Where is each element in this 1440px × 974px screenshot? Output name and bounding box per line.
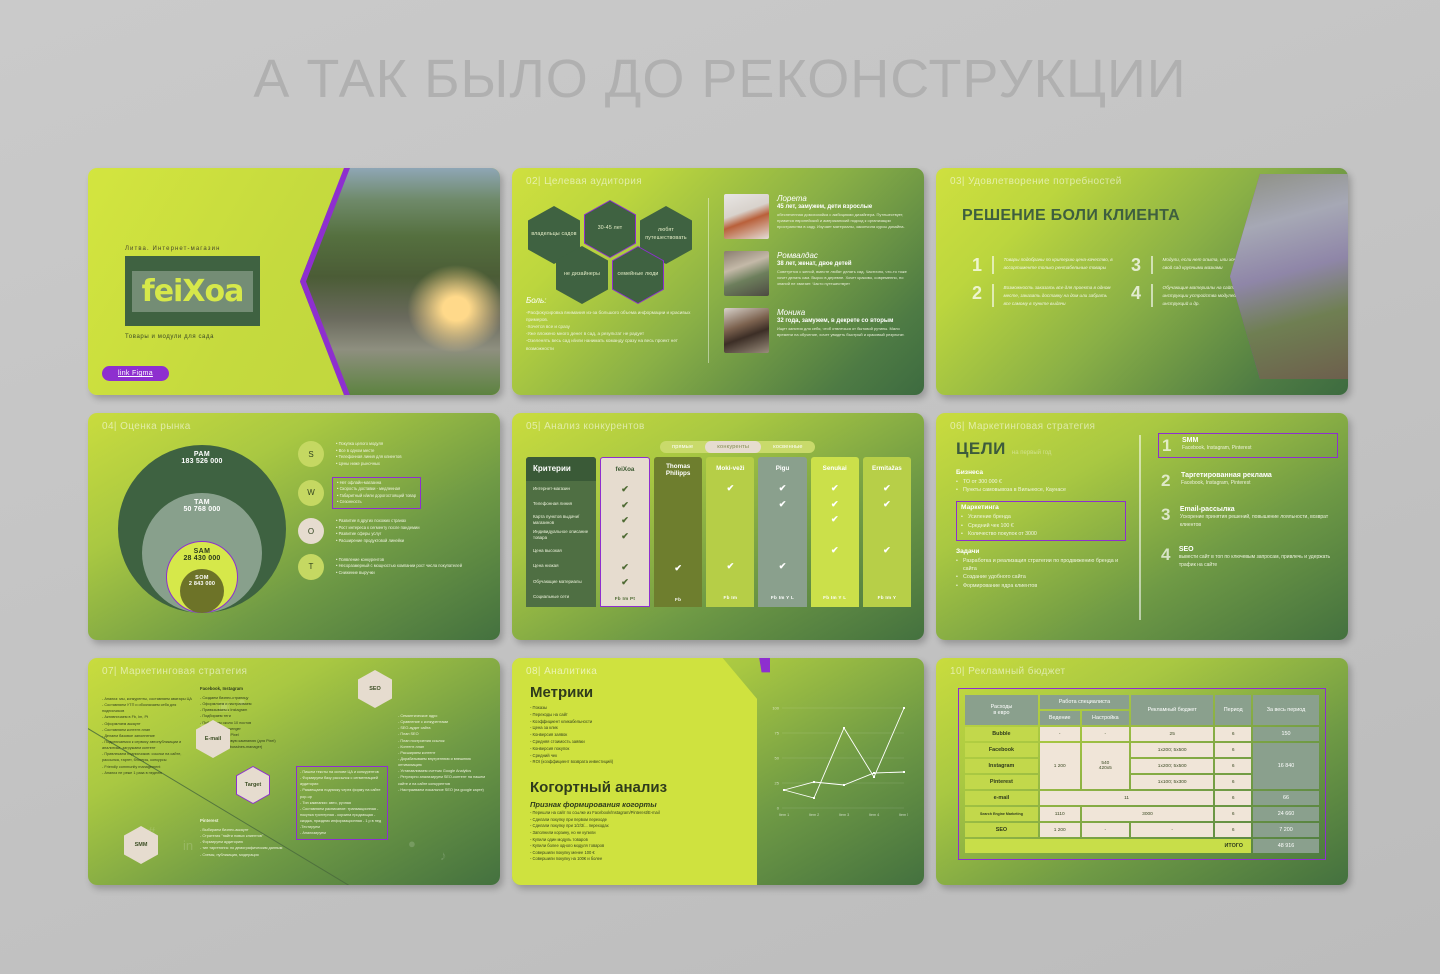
- column-pigu: Pigu ✔ ✔ ✔ Fb Im Y L: [758, 457, 806, 607]
- page-title: А ТАК БЫЛО ДО РЕКОНСТРУКЦИИ: [0, 48, 1440, 110]
- th-total-period: За весь период: [1253, 695, 1319, 725]
- hex-age: 30-45 лет: [584, 200, 636, 258]
- swot-items: • Появление конкурентов• Несоразмерный с…: [332, 555, 466, 579]
- persona-meta: 38 лет, женат, двое детей: [777, 261, 914, 267]
- column-header: Критерии: [526, 457, 596, 481]
- persona-desc: Ищет занятия для себя, чтоб отвлечься от…: [777, 326, 914, 338]
- check-icon: ✔: [831, 500, 839, 509]
- check-icon: ✔: [883, 500, 891, 509]
- persona-meta: 45 лет, замужем, дети взрослые: [777, 204, 914, 210]
- figma-link-button[interactable]: link Figma: [102, 366, 169, 381]
- social-cell: Fb Im: [706, 590, 754, 606]
- check-icon: ✔: [727, 484, 735, 493]
- slide6-label: 06| Маркетинговая стратегия: [950, 421, 1095, 432]
- channel-seo: 4 SEOвывести сайт в топ по ключевым запр…: [1158, 543, 1338, 572]
- list-item: Лорета 45 лет, замужем, дети взрослые об…: [724, 194, 914, 239]
- check-icon: ✔: [621, 532, 629, 541]
- logo-text: feiXoa: [142, 274, 244, 309]
- tab-competitors[interactable]: конкуренты: [705, 441, 761, 453]
- svg-text:25: 25: [775, 781, 780, 786]
- swot-letter: T: [298, 554, 324, 580]
- cohort-heading: Когортный анализ: [530, 779, 667, 796]
- item-number: 3: [1131, 256, 1145, 274]
- th-period: Период: [1215, 695, 1251, 725]
- table-row: Bubble - - 25 6 150: [965, 727, 1319, 741]
- swot-letter: S: [298, 441, 324, 467]
- swot-letter: W: [298, 480, 324, 506]
- th-specialist: Работа специалиста: [1040, 695, 1129, 709]
- metrics-heading: Метрики: [530, 684, 593, 701]
- pain-title: Боль:: [526, 296, 696, 305]
- column-header: feiXoa: [601, 458, 649, 482]
- persona-name: Лорета: [777, 194, 914, 203]
- column-ermitazas: Ermitažas ✔ ✔ ✔ Fb Im Y: [863, 457, 911, 607]
- col-seo-text: - Семантическое ядро - Сравнение с конку…: [398, 713, 494, 793]
- item-text: Товары подобраны по критерию цена-качест…: [1004, 256, 1114, 274]
- list-item: 1Товары подобраны по критерию цена-качес…: [972, 256, 1113, 274]
- table-row: Интернет-магазин: [526, 481, 596, 497]
- slide2-label: 02| Целевая аудитория: [526, 176, 642, 187]
- table-row: Цена низкая: [526, 559, 596, 575]
- table-row: Цена высокая: [526, 543, 596, 559]
- slide8-label: 08| Аналитика: [526, 666, 597, 677]
- col-smm-text: - Анализ: мы, конкуренты, составляем ава…: [102, 696, 194, 776]
- table-row: SEO 1 200 - - 6 7 200: [965, 823, 1319, 837]
- slide4-label: 04| Оценка рынка: [102, 421, 191, 432]
- slide10-label: 10| Рекламный бюджет: [950, 666, 1065, 677]
- metrics-list: - Показы - Переходы на сайт - Коэффициен…: [530, 705, 735, 766]
- swot-row-t: T • Появление конкурентов• Несоразмерный…: [298, 554, 488, 580]
- item-number: 2: [972, 284, 986, 307]
- needs-grid: 1Товары подобраны по критерию цена-качес…: [972, 256, 1272, 307]
- goals-sections: Бизнеса ТО от 300 000 €Пункты самовывоза…: [956, 469, 1126, 597]
- slide-7-strategy-detail[interactable]: 07| Маркетинговая стратегия ● f ▣ # in ●…: [88, 658, 500, 885]
- slide3-label: 03| Удовлетворение потребностей: [950, 176, 1122, 187]
- slide-8-analytics[interactable]: 08| Аналитика Метрики - Показы - Переход…: [512, 658, 924, 885]
- column-senukai: Senukai ✔ ✔ ✔ ✔ Fb Im Y L: [811, 457, 859, 607]
- slide-6-strategy[interactable]: 06| Маркетинговая стратегия ЦЕЛИна первы…: [936, 413, 1348, 640]
- circle-som: SOM 2 843 000: [180, 569, 224, 613]
- check-icon: ✔: [831, 546, 839, 555]
- th-ad-budget: Рекламный бюджет: [1131, 695, 1213, 725]
- item-number: 1: [972, 256, 986, 274]
- column-criteria: Критерии Интернет-магазин Телефонная лин…: [526, 457, 596, 607]
- audience-hexes: владельцы садов 30-45 лет любят путешест…: [528, 198, 698, 288]
- slide3-heading: РЕШЕНИЕ БОЛИ КЛИЕНТА: [962, 206, 1180, 226]
- item-text: Возможность заказать все для проекта в о…: [1004, 284, 1114, 307]
- check-icon: ✔: [727, 562, 735, 571]
- section-tasks: Задачи Разработка и реализация стратегии…: [956, 548, 1126, 590]
- persona-list: Лорета 45 лет, замужем, дети взрослые об…: [724, 194, 914, 365]
- list-item: Моника 32 года, замужем, в декрете со вт…: [724, 308, 914, 353]
- check-icon: ✔: [883, 484, 891, 493]
- slide1-tagline: Товары и модули для сада: [125, 334, 214, 340]
- check-icon: ✔: [831, 484, 839, 493]
- table-row: Индивидуальное описание товара: [526, 528, 596, 544]
- column-header: Moki-veži: [706, 457, 754, 481]
- item-number: 4: [1131, 284, 1145, 307]
- check-icon: ✔: [779, 484, 787, 493]
- svg-text:75: 75: [775, 731, 780, 736]
- check-icon: ✔: [621, 501, 629, 510]
- svg-text:Item 2: Item 2: [809, 813, 820, 817]
- th-maintenance: Ведение: [1040, 711, 1080, 725]
- table-row: Социальные сети: [526, 590, 596, 606]
- column-thomas: Thomas Philipps ✔ Fb: [654, 457, 702, 607]
- channel-email: 3 Email-рассылкаУскорение принятия решен…: [1158, 503, 1338, 532]
- svg-text:Item 4: Item 4: [869, 813, 880, 817]
- divider: [708, 198, 709, 363]
- column-header: Pigu: [758, 457, 806, 481]
- swot-list: S • Покупка целого модуля• Все в одном м…: [298, 439, 488, 587]
- svg-text:50: 50: [775, 756, 780, 761]
- tab-indirect[interactable]: косвенные: [761, 441, 815, 453]
- check-icon: ✔: [779, 500, 787, 509]
- column-header: Senukai: [811, 457, 859, 481]
- svg-text:Item 5: Item 5: [899, 813, 908, 817]
- avatar: [724, 194, 769, 239]
- check-icon: ✔: [621, 516, 629, 525]
- check-icon: ✔: [621, 578, 629, 587]
- channel-smm: 1 SMMFacebook, Instagram, Pinterest: [1158, 433, 1338, 458]
- check-icon: ✔: [779, 562, 787, 571]
- slide-5-competitors[interactable]: 05| Анализ конкурентов прямые конкуренты…: [512, 413, 924, 640]
- persona-desc: Советуется с женой, вместе любят делать …: [777, 269, 914, 287]
- swot-row-o: O • Развитие в других похожих странах• Р…: [298, 516, 488, 547]
- th-expenses: Расходыв евро: [965, 695, 1038, 725]
- slide-2-audience[interactable]: 02| Целевая аудитория владельцы садов 30…: [512, 168, 924, 395]
- column-header: Ermitažas: [863, 457, 911, 481]
- slide5-label: 05| Анализ конкурентов: [526, 421, 645, 432]
- flowers-photo: [1230, 174, 1348, 379]
- slide-1-cover[interactable]: Литва. Интернет-магазин feiXoa Товары и …: [88, 168, 500, 395]
- swot-items: • Развитие в других похожих странах• Рос…: [332, 516, 424, 547]
- social-cell: Fb Im Y: [863, 590, 911, 606]
- swot-letter: O: [298, 518, 324, 544]
- competitor-tabs[interactable]: прямые конкуренты косвенные: [660, 441, 815, 453]
- swot-row-w: W • Нет офлайн-магазина• Скорость достав…: [298, 477, 488, 510]
- check-icon: ✔: [883, 546, 891, 555]
- table-row: Карта пунктов выдачи/магазинов: [526, 512, 596, 528]
- persona-name: Моника: [777, 308, 914, 317]
- slide-10-budget[interactable]: 10| Рекламный бюджет Расходыв евро Работ…: [936, 658, 1348, 885]
- section-marketing: Маркетинга Усиление брендаСредний чек 10…: [956, 501, 1126, 541]
- tab-direct[interactable]: прямые: [660, 441, 705, 453]
- persona-name: Ромвалдас: [777, 251, 914, 260]
- column-header: Thomas Philipps: [654, 457, 702, 483]
- slide-4-market[interactable]: 04| Оценка рынка PAM 183 526 000 TAM 50 …: [88, 413, 500, 640]
- table-row: Телефонная линия: [526, 497, 596, 513]
- feixoa-logo: feiXoa: [125, 256, 260, 326]
- avatar: [724, 308, 769, 353]
- tiktok-icon: ♪: [440, 848, 447, 863]
- list-item: 2Возможность заказать все для проекта в …: [972, 284, 1113, 307]
- channels-list: 1 SMMFacebook, Instagram, Pinterest 2 Та…: [1158, 433, 1338, 583]
- cohort-list: - Перешли на сайт по ссылке из Facebook/…: [530, 810, 745, 863]
- social-cell: Fb Im Pt: [601, 591, 649, 607]
- garden-photo: [300, 168, 500, 395]
- table-row: e-mail 11 6 66: [965, 791, 1319, 805]
- budget-table: Расходыв евро Работа специалиста Рекламн…: [958, 688, 1326, 860]
- persona-desc: обеспеченная домохозяйка с амбициями диз…: [777, 212, 914, 230]
- svg-text:100: 100: [772, 706, 779, 711]
- swot-row-s: S • Покупка целого модуля• Все в одном м…: [298, 439, 488, 470]
- svg-text:Item 1: Item 1: [779, 813, 790, 817]
- linkedin-icon: in: [183, 838, 193, 853]
- col-pinterest: Pinterest - Выбираем бизнес-аккаунт - Ст…: [200, 818, 290, 858]
- column-feixoa: feiXoa ✔ ✔ ✔ ✔ ✔ ✔ Fb Im Pt: [600, 457, 650, 607]
- check-icon: ✔: [621, 485, 629, 494]
- check-icon: ✔: [831, 515, 839, 524]
- social-cell: Fb: [654, 592, 702, 608]
- table-row: Обучающие материалы: [526, 574, 596, 590]
- market-circles: PAM 183 526 000 TAM 50 768 000 SAM 28 43…: [118, 445, 298, 620]
- slide1-subtitle: Литва. Интернет-магазин: [125, 246, 221, 252]
- goals-heading: ЦЕЛИна первый год: [956, 439, 1051, 459]
- swot-items: • Нет офлайн-магазина• Скорость доставки…: [332, 477, 421, 510]
- table-row-total: ИТОГО 48 916: [965, 839, 1319, 853]
- th-setup: Настройка: [1082, 711, 1129, 725]
- pinterest-icon-2: ●: [408, 836, 416, 851]
- social-cell: Fb Im Y L: [758, 590, 806, 606]
- check-icon: ✔: [674, 564, 682, 573]
- svg-text:Item 3: Item 3: [839, 813, 850, 817]
- section-business: Бизнеса ТО от 300 000 €Пункты самовывоза…: [956, 469, 1126, 494]
- col-email-text: - Пишем тексты на основе ЦА и конкуренто…: [296, 766, 388, 840]
- table-row: Search Engine Marketing 1110 3000 6 24 6…: [965, 807, 1319, 821]
- swot-items: • Покупка целого модуля• Все в одном мес…: [332, 439, 406, 470]
- avatar: [724, 251, 769, 296]
- list-item: Ромвалдас 38 лет, женат, двое детей Сове…: [724, 251, 914, 296]
- check-icon: ✔: [621, 563, 629, 572]
- table-row: Facebook 1 200 540 420x5 1x200; 5x500 6 …: [965, 743, 1319, 757]
- social-cell: Fb Im Y L: [811, 590, 859, 606]
- pain-block: Боль: -Расфокусировка внимания из-за бол…: [526, 296, 696, 352]
- pain-text: -Расфокусировка внимания из-за большого …: [526, 309, 696, 352]
- channel-targeted-ads: 2 Таргетированная рекламаFacebook, Insta…: [1158, 469, 1338, 492]
- svg-text:0: 0: [777, 806, 780, 811]
- competitor-table: Критерии Интернет-магазин Телефонная лин…: [526, 457, 911, 607]
- persona-meta: 32 года, замужем, в декрете со вторым: [777, 318, 914, 324]
- slide-3-needs[interactable]: 03| Удовлетворение потребностей РЕШЕНИЕ …: [936, 168, 1348, 395]
- analytics-line-chart: 0255075100 Item 1Item 2Item 3Item 4Item …: [758, 698, 908, 833]
- column-moki: Moki-veži ✔ ✔ Fb Im: [706, 457, 754, 607]
- cohort-subheading: Признак формирования когорты: [530, 800, 657, 809]
- divider: [1139, 435, 1141, 620]
